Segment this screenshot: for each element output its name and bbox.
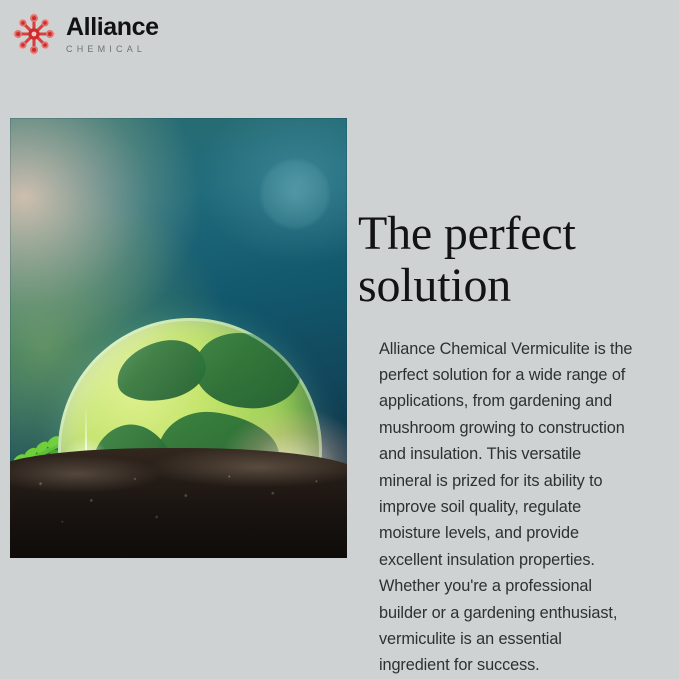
brand-logo[interactable]: Alliance CHEMICAL: [12, 12, 159, 56]
brand-name: Alliance: [66, 15, 159, 40]
product-image: [10, 118, 347, 558]
soil-bed: [10, 448, 347, 558]
headline-line-1: The perfect: [358, 207, 576, 260]
product-infographic: Alliance CHEMICAL: [0, 0, 679, 679]
molecule-radial-icon: [12, 12, 56, 56]
headline-line-2: solution: [358, 259, 511, 312]
brand-subtitle: CHEMICAL: [66, 45, 159, 54]
bokeh-highlight-icon: [259, 158, 331, 230]
brand-wordmark: Alliance CHEMICAL: [66, 15, 159, 54]
copy-block: The perfect solution Alliance Chemical V…: [358, 208, 646, 679]
body-paragraph: Alliance Chemical Vermiculite is the per…: [379, 336, 634, 679]
page-title: The perfect solution: [358, 208, 646, 312]
